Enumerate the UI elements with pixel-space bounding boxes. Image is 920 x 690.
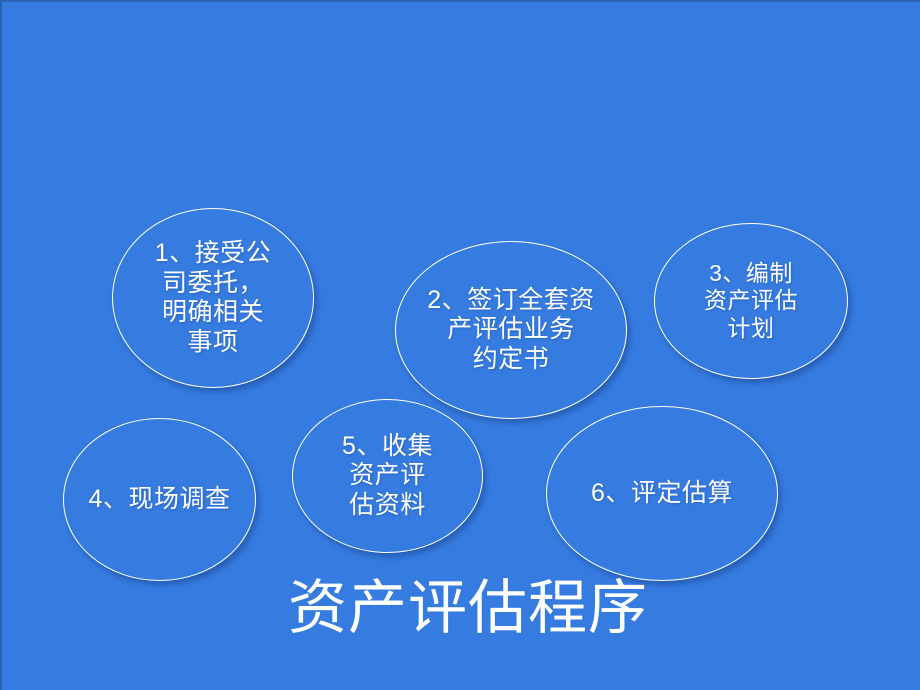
process-step-label-5: 5、收集 资产评 估资料 — [314, 432, 461, 521]
process-step-circle-6[interactable]: 6、评定估算 — [546, 406, 778, 581]
process-step-circle-2[interactable]: 2、签订全套资 产评估业务 约定书 — [395, 241, 627, 419]
process-step-circle-3[interactable]: 3、编制 资产评估 计划 — [654, 223, 848, 379]
process-step-label-2: 2、签订全套资 产评估业务 约定书 — [414, 286, 607, 375]
process-step-label-4: 4、现场调查 — [70, 485, 250, 515]
process-step-label-1: 1、接受公 司委托， 明确相关 事项 — [135, 239, 291, 357]
process-step-circle-5[interactable]: 5、收集 资产评 估资料 — [292, 399, 483, 553]
slide-title: 资产评估程序 — [288, 578, 648, 640]
process-step-circle-4[interactable]: 4、现场调查 — [63, 418, 256, 581]
process-step-label-6: 6、评定估算 — [556, 479, 768, 509]
process-step-circle-1[interactable]: 1、接受公 司委托， 明确相关 事项 — [112, 208, 314, 388]
presentation-slide: 1、接受公 司委托， 明确相关 事项 2、签订全套资 产评估业务 约定书 3、编… — [0, 0, 920, 690]
process-step-label-3: 3、编制 资产评估 计划 — [676, 260, 826, 341]
